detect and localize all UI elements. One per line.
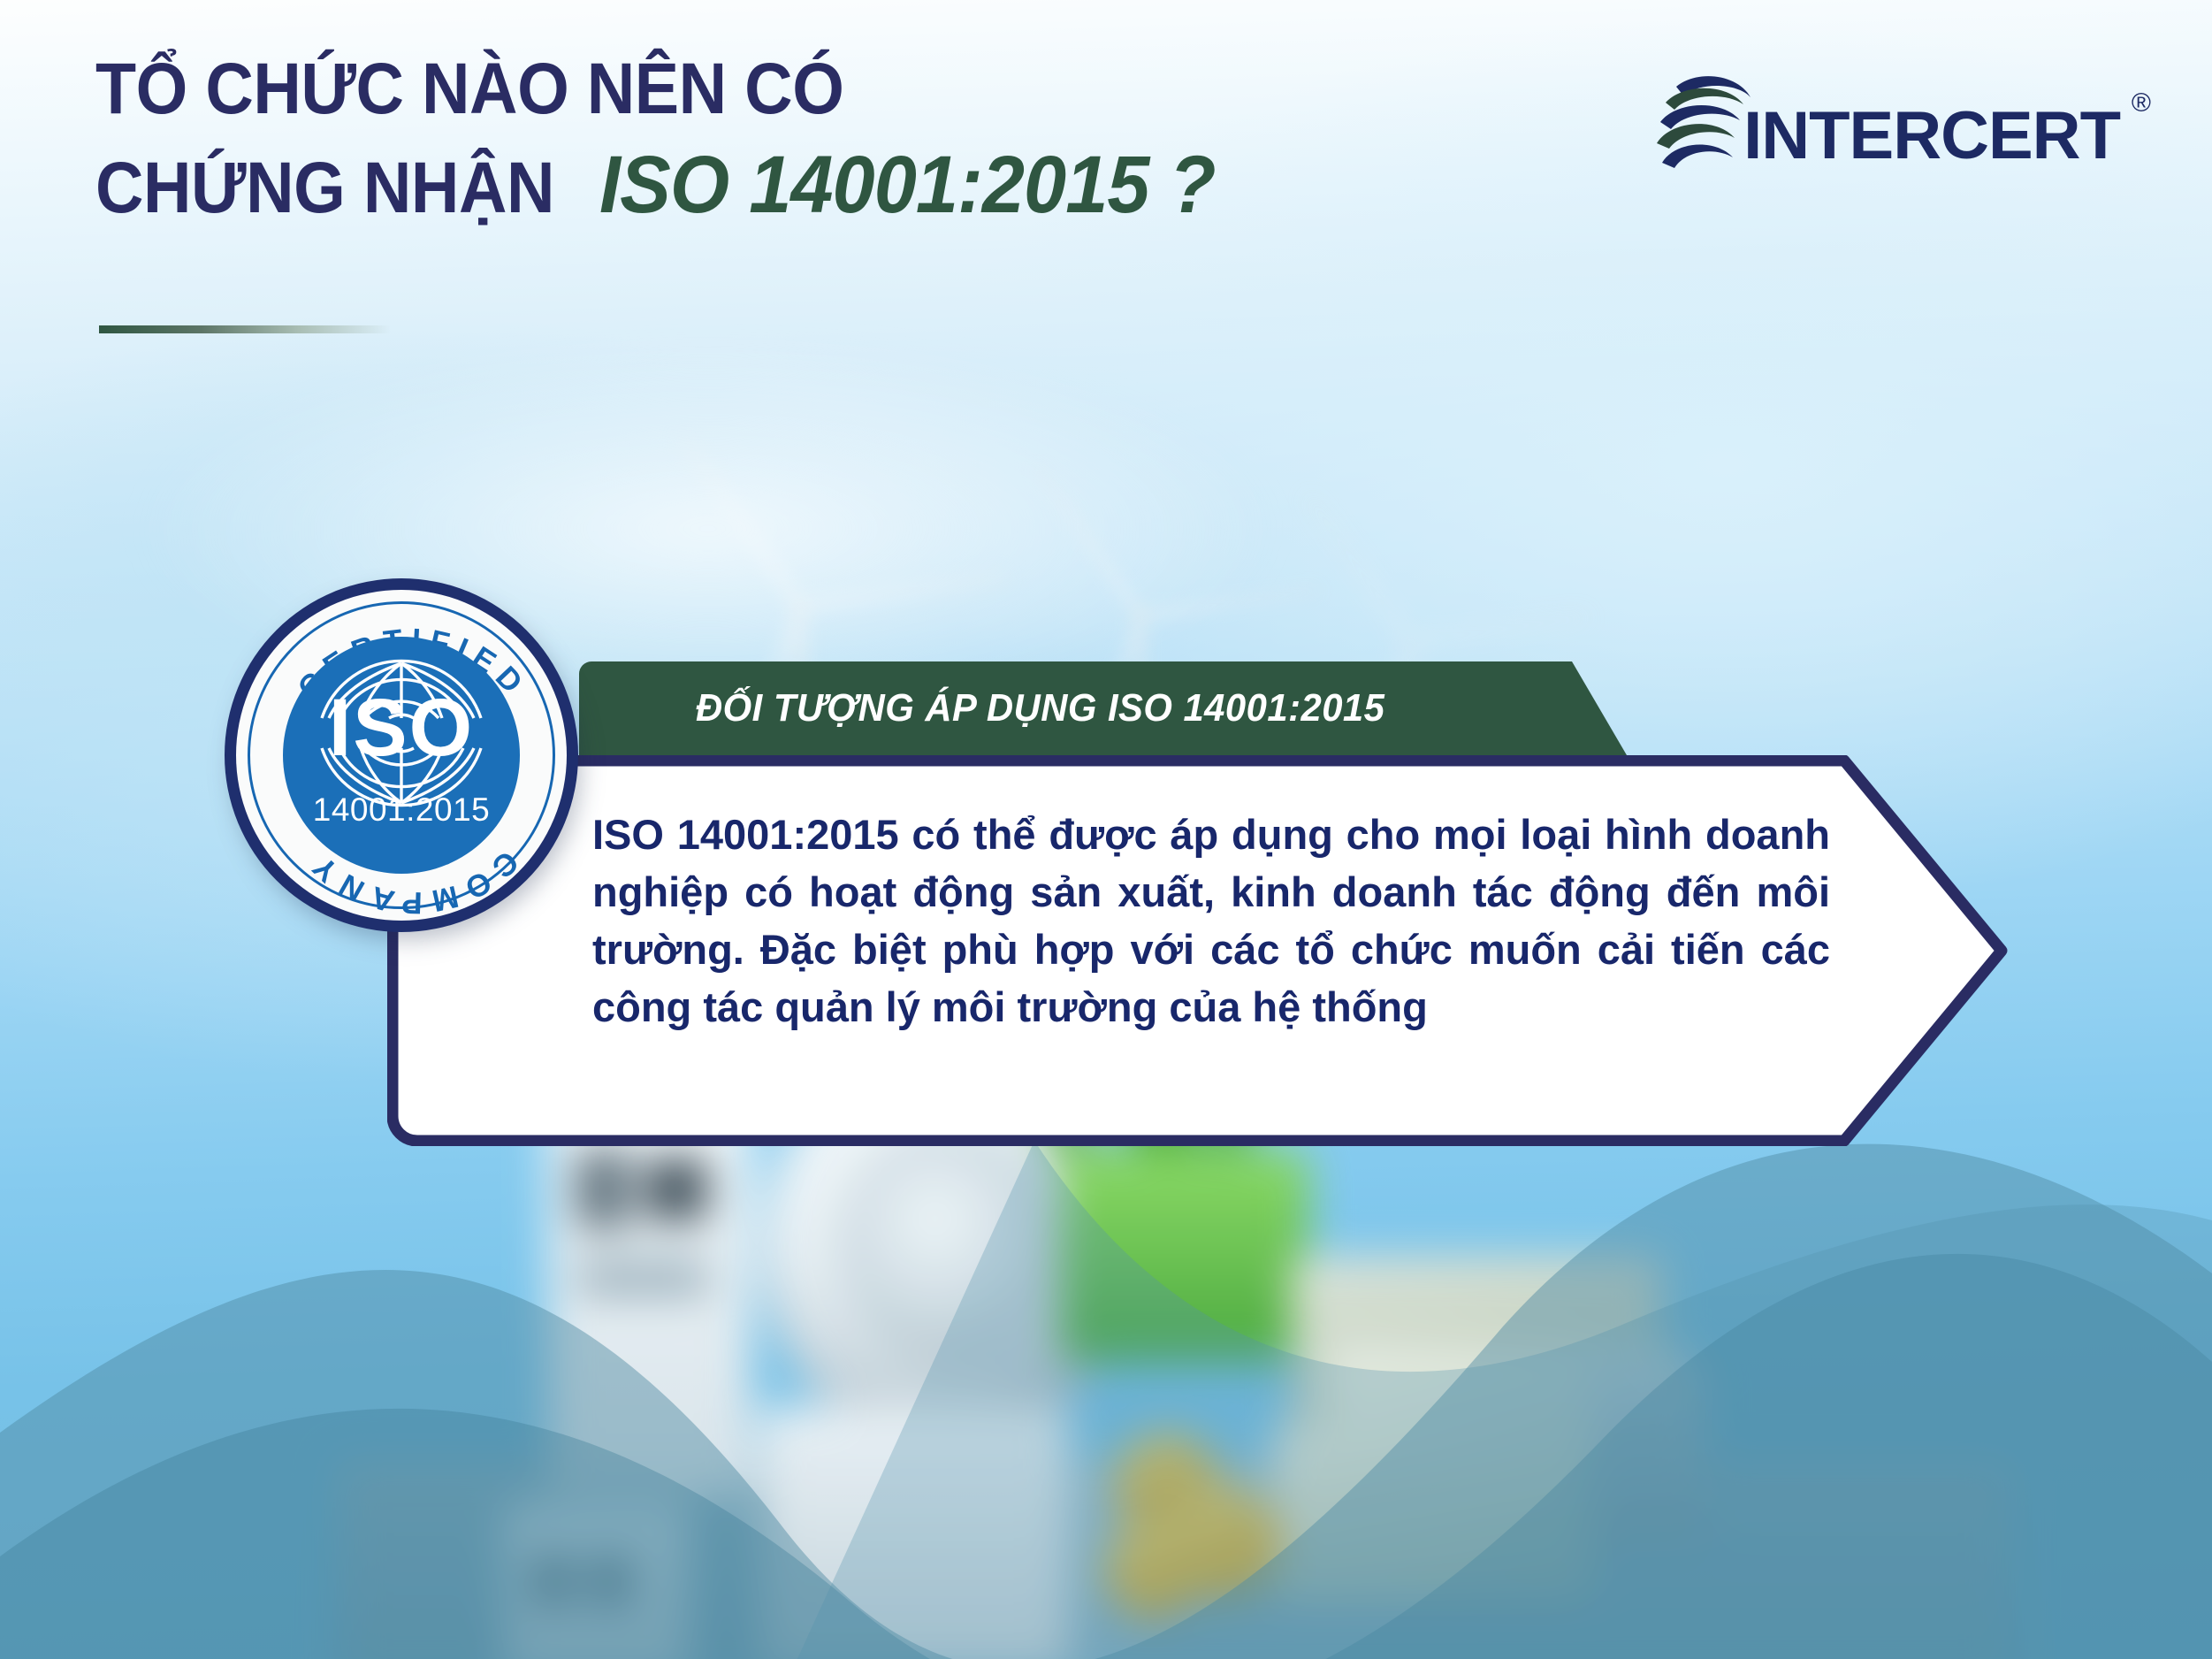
iso-certified-badge: CERTIFIED COMPANY [221, 577, 592, 948]
section-banner: ĐỐI TƯỢNG ÁP DỤNG ISO 14001:2015 [579, 661, 1627, 755]
title-line-2-prefix: CHỨNG NHẬN [95, 154, 554, 223]
title-line-1: TỔ CHỨC NÀO NÊN CÓ [95, 55, 1162, 124]
title-line-2: CHỨNG NHẬN ISO 14001:2015 ? [95, 147, 1255, 224]
wave-decoration [0, 1141, 2212, 1659]
badge-iso-text: ISO [329, 687, 474, 768]
badge-inner-white: CERTIFIED COMPANY [236, 590, 567, 921]
badge-outer-ring: CERTIFIED COMPANY [225, 578, 578, 932]
page-title: TỔ CHỨC NÀO NÊN CÓ CHỨNG NHẬN ISO 14001:… [95, 55, 1255, 224]
logo-name: INTERCERT [1743, 98, 2120, 173]
card-body-text: ISO 14001:2015 có thể được áp dụng cho m… [592, 807, 1830, 1036]
logo-wordmark: INTERCERT ® [1743, 103, 2120, 170]
content-card: ISO 14001:2015 có thể được áp dụng cho m… [387, 755, 2012, 1146]
title-underline-rule [99, 325, 391, 333]
badge-core: ISO 14001:2015 [283, 637, 520, 874]
title-line-2-standard: ISO 14001:2015 ? [599, 147, 1215, 224]
header: TỔ CHỨC NÀO NÊN CÓ CHỨNG NHẬN ISO 14001:… [0, 0, 2212, 354]
banner-label: ĐỐI TƯỢNG ÁP DỤNG ISO 14001:2015 [696, 686, 1384, 730]
registered-trademark-icon: ® [2132, 90, 2150, 117]
globe-swoosh-icon [1646, 64, 1759, 170]
brand-logo[interactable]: INTERCERT ® [1646, 64, 2120, 170]
